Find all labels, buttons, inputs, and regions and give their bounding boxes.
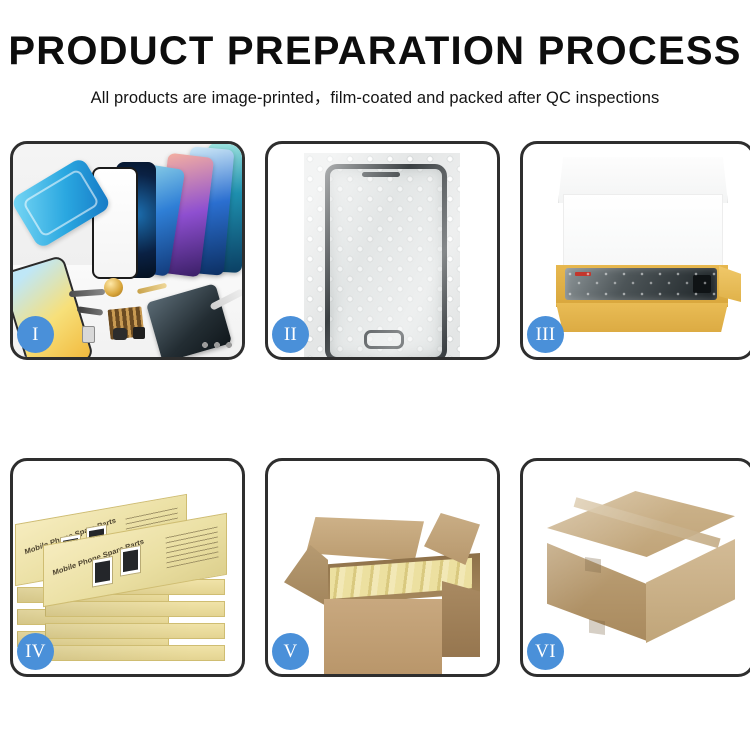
process-step-panel-5[interactable]: V: [265, 458, 500, 677]
box-side: [45, 624, 195, 638]
page-header: PRODUCT PREPARATION PROCESS All products…: [0, 0, 750, 108]
process-step-panel-4[interactable]: Mobile Phone Spare Parts Mobile Phone Sp…: [10, 458, 245, 677]
foam-padding: [563, 194, 723, 272]
display-connector: [693, 275, 711, 293]
carton-flap-left: [284, 545, 328, 607]
step-badge-4: IV: [17, 633, 54, 670]
step-badge-1: I: [17, 316, 54, 353]
step-badge-6: VI: [527, 633, 564, 670]
page-title: PRODUCT PREPARATION PROCESS: [0, 31, 750, 71]
carton-tab-bottom: [589, 619, 605, 635]
step-badge-5: V: [272, 633, 309, 670]
stacked-box-front-3: [45, 623, 225, 639]
kraft-box-side-flap: [719, 266, 741, 302]
carton-flap-back: [306, 517, 424, 561]
carton-front-wall: [324, 599, 442, 674]
ic-chip: [133, 327, 145, 339]
stacked-box-front-4: [45, 645, 225, 661]
sim-tray: [82, 326, 95, 343]
box-side: [45, 602, 195, 616]
process-step-panel-3[interactable]: III: [520, 141, 750, 360]
step-badge-2: II: [272, 316, 309, 353]
kraft-box-front-wall: [556, 303, 728, 332]
carton-tab-top: [585, 557, 601, 573]
film-sheen: [304, 153, 460, 357]
screws: [201, 340, 235, 350]
red-tape: [575, 272, 591, 276]
packed-screen-product: [565, 268, 717, 300]
process-step-panel-6[interactable]: VI: [520, 458, 750, 677]
stacked-box-front-2: [45, 601, 225, 617]
box-phone-image-4: [120, 545, 141, 577]
box-phone-image-3: [92, 556, 113, 588]
process-step-panel-1[interactable]: I: [10, 141, 245, 360]
page-subtitle: All products are image-printed，film-coat…: [0, 84, 750, 108]
camera-module: [113, 328, 127, 340]
speaker-module: [104, 278, 123, 297]
carton-side-wall: [442, 581, 480, 657]
box-spec-lines-front: [165, 524, 218, 569]
box-side: [45, 646, 195, 660]
process-step-grid: I II III: [10, 141, 745, 677]
step-badge-3: III: [527, 316, 564, 353]
process-step-panel-2[interactable]: II: [265, 141, 500, 360]
carton-right-face: [646, 539, 735, 643]
